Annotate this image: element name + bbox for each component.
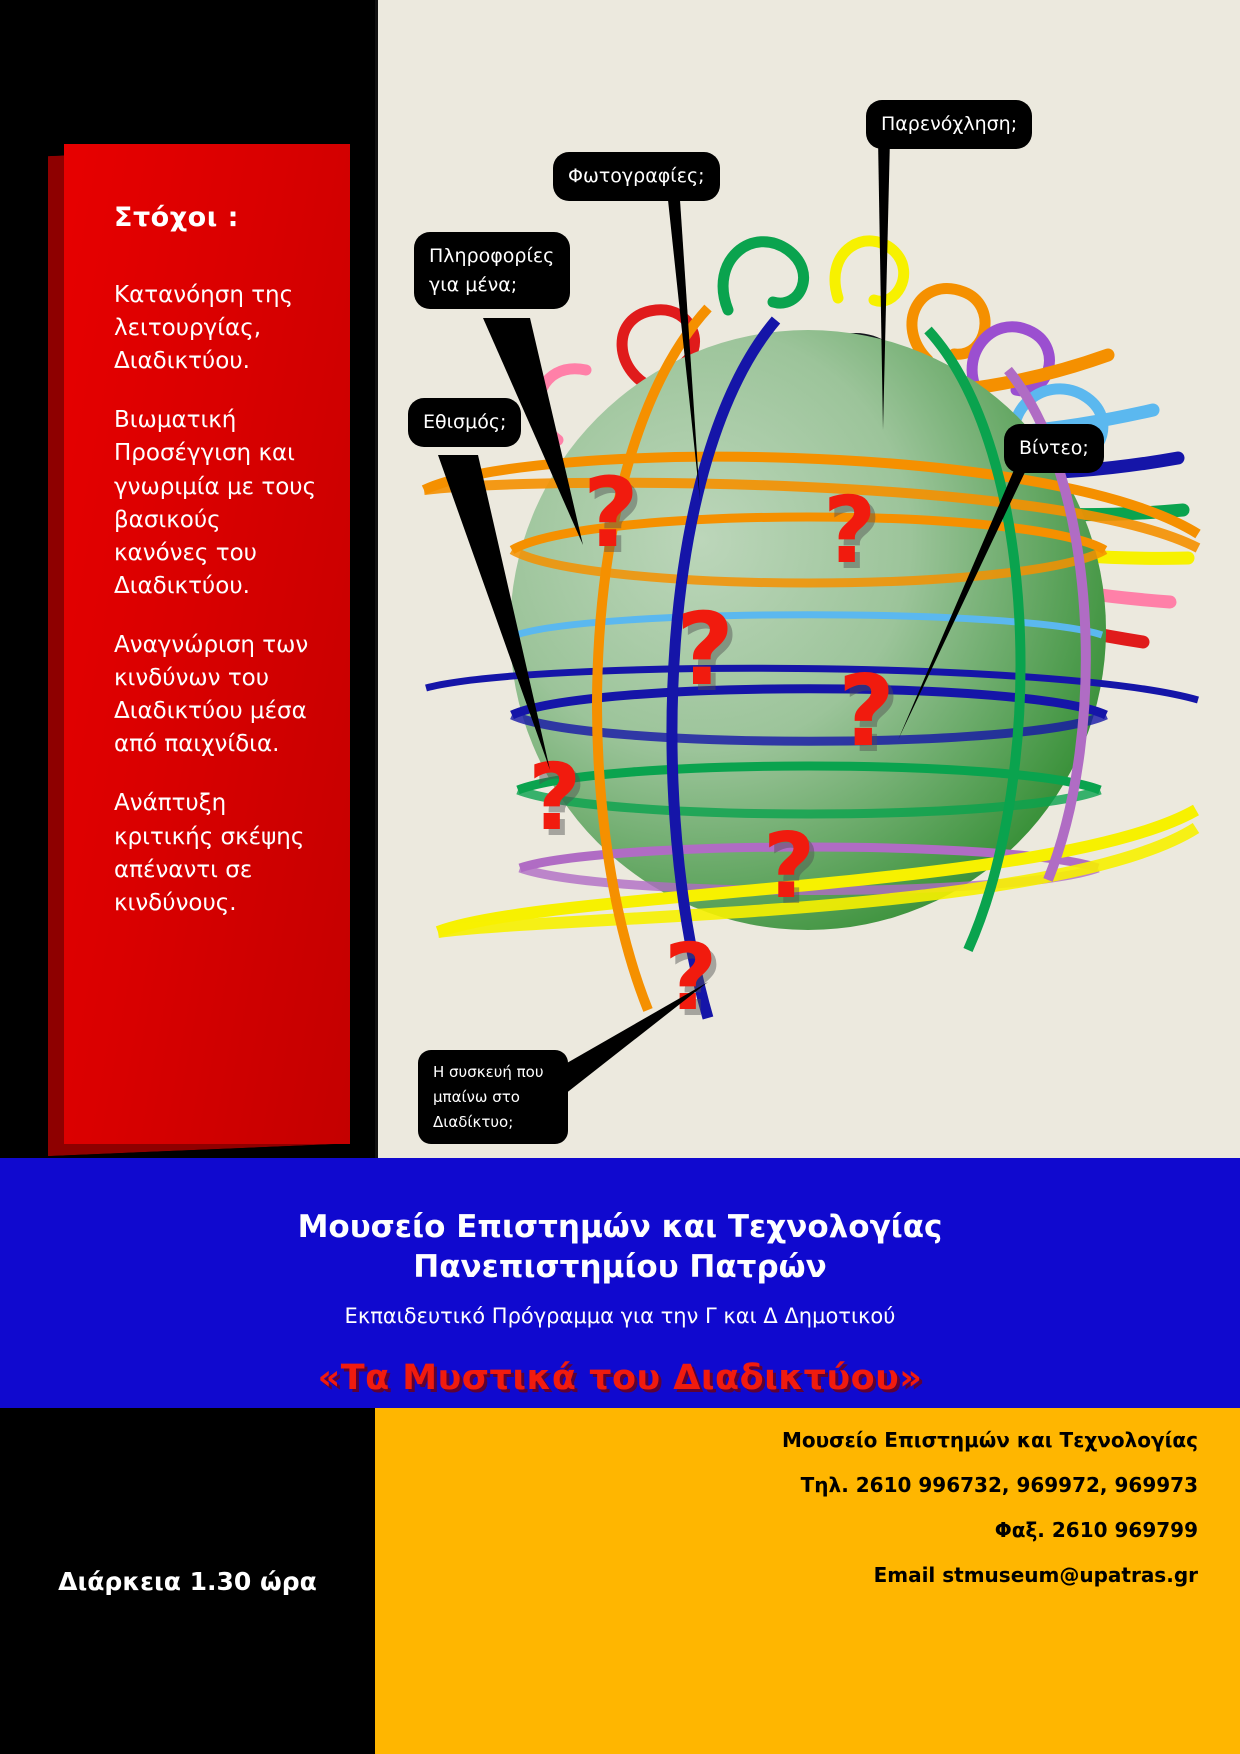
bubble-parenochlisi[interactable]: Παρενόχληση; — [866, 100, 1032, 149]
contact-line: Τηλ. 2610 996732, 969972, 969973 — [375, 1471, 1198, 1500]
museum-name-line1: Μουσείο Επιστημών και Τεχνολογίας — [298, 1209, 943, 1245]
leader-ethismos — [438, 455, 550, 770]
footer-blue-band: Μουσείο Επιστημών και Τεχνολογίας Πανεπι… — [0, 1158, 1240, 1408]
goals-list: Κατανόηση της λειτουργίας, Διαδικτύου. Β… — [114, 279, 322, 920]
bubble-ethismos[interactable]: Εθισμός; — [408, 398, 521, 447]
leader-parenochlisi — [878, 138, 890, 430]
callout-leaders — [378, 0, 1240, 1158]
bubble-vinteo[interactable]: Βίντεο; — [1004, 424, 1104, 473]
bottom-row: Διάρκεια 1.30 ώρα Μουσείο Επιστημών και … — [0, 1408, 1240, 1754]
goal-item: Ανάπτυξη κριτικής σκέψης απέναντι σε κιν… — [114, 787, 322, 919]
goals-panel: Στόχοι : Κατανόηση της λειτουργίας, Διαδ… — [64, 144, 350, 1144]
goals-title: Στόχοι : — [114, 202, 322, 233]
artwork-panel: ? ? ? ? ? ? ? Παρενόχληση; Φωτογραφίες; … — [375, 0, 1240, 1158]
museum-name-line2: Πανεπιστημίου Πατρών — [413, 1249, 826, 1285]
program-title: «Τα Μυστικά του Διαδικτύου» — [0, 1358, 1240, 1398]
duration-label: Διάρκεια 1.30 ώρα — [0, 1408, 375, 1754]
goal-item: Αναγνώριση των κινδύνων του Διαδικτύου μ… — [114, 629, 322, 761]
contact-line: Φαξ. 2610 969799 — [375, 1516, 1198, 1545]
program-line: Εκπαιδευτικό Πρόγραμμα για την Γ και Δ Δ… — [0, 1304, 1240, 1328]
leader-siskevi — [546, 982, 708, 1098]
museum-name: Μουσείο Επιστημών και Τεχνολογίας Πανεπι… — [0, 1158, 1240, 1287]
contact-line: Μουσείο Επιστημών και Τεχνολογίας — [375, 1426, 1198, 1455]
bubble-fotografies[interactable]: Φωτογραφίες; — [553, 152, 720, 201]
bubble-plirofories[interactable]: Πληροφορίες για μένα; — [414, 232, 570, 309]
goal-item: Βιωματική Προσέγγιση και γνωριμία με του… — [114, 404, 322, 603]
contact-box: Μουσείο Επιστημών και Τεχνολογίας Τηλ. 2… — [375, 1408, 1240, 1754]
bubble-siskevi[interactable]: Η συσκευή που μπαίνω στο Διαδίκτυο; — [418, 1050, 568, 1144]
leader-fotografies — [668, 200, 700, 500]
goal-item: Κατανόηση της λειτουργίας, Διαδικτύου. — [114, 279, 322, 378]
poster-root: Στόχοι : Κατανόηση της λειτουργίας, Διαδ… — [0, 0, 1240, 1754]
leader-vinteo — [898, 470, 1026, 740]
contact-email[interactable]: Email stmuseum@upatras.gr — [375, 1561, 1198, 1590]
